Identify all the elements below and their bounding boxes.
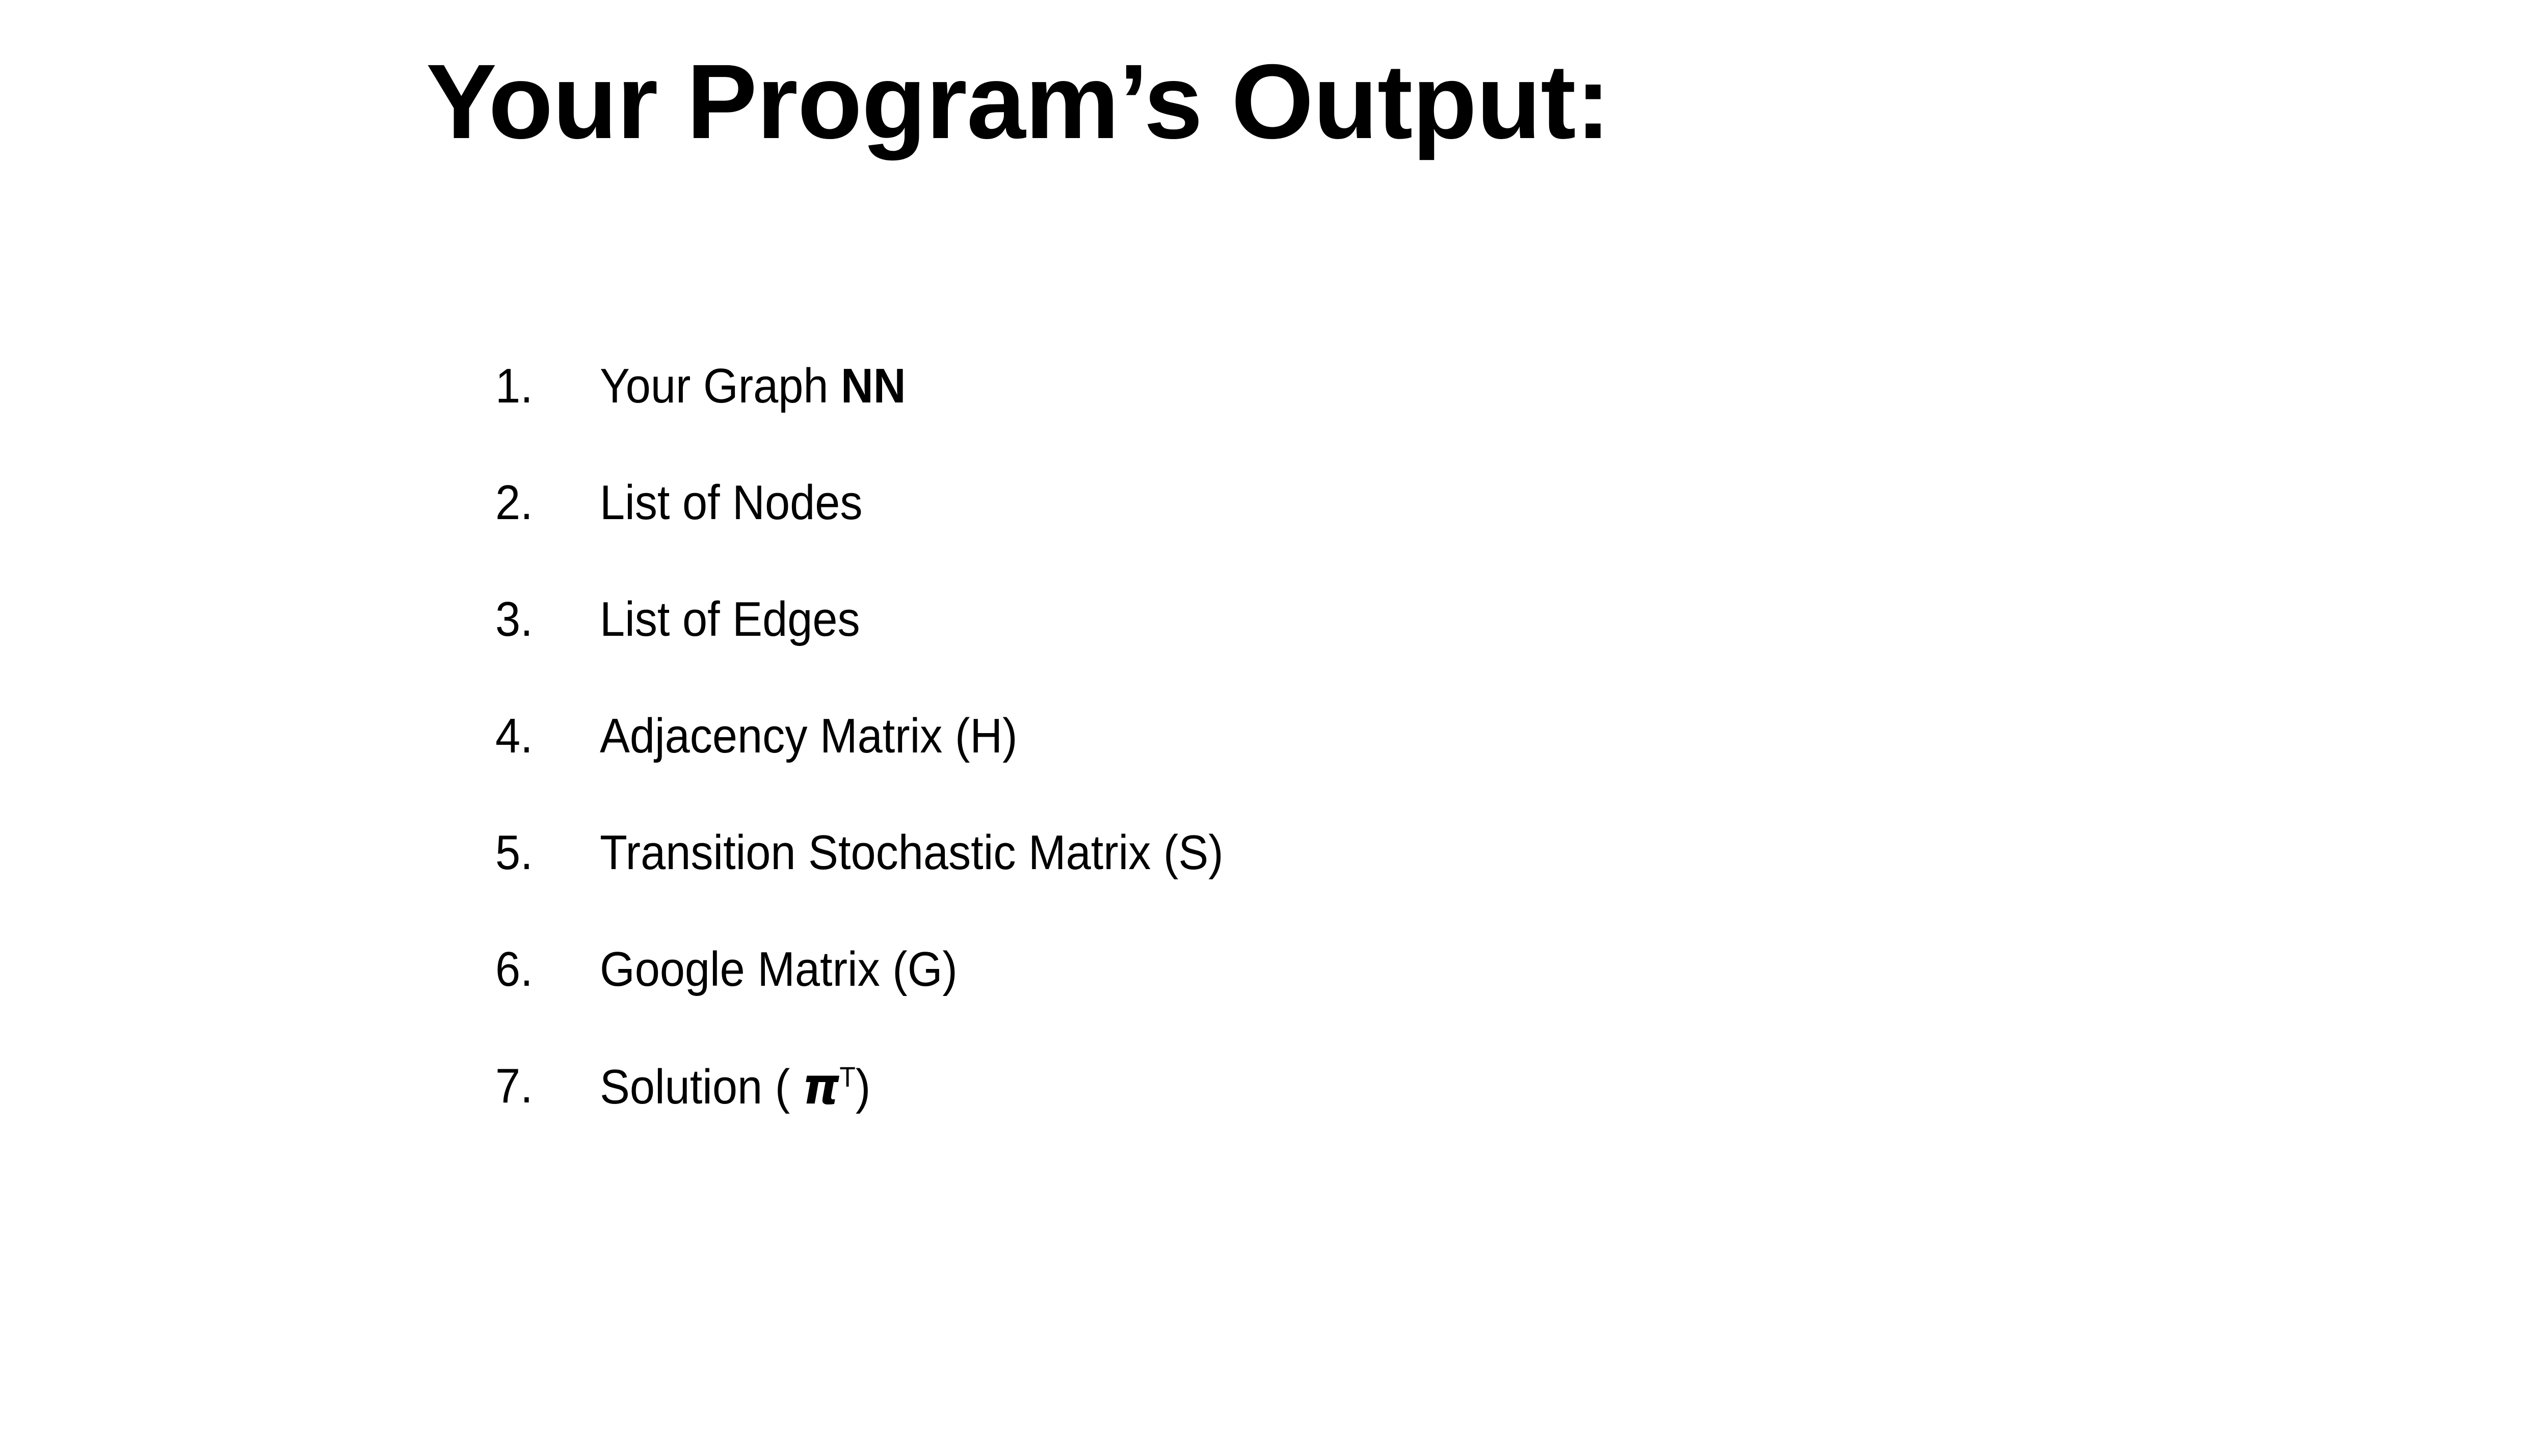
- list-marker: 4.: [495, 707, 566, 766]
- list-item: 5. Transition Stochastic Matrix (S): [495, 823, 2330, 940]
- closing-paren: ): [856, 1060, 870, 1114]
- list-item: 7. Solution ( πT): [495, 1057, 2330, 1173]
- list-item-text: Adjacency Matrix (H): [600, 709, 1018, 763]
- list-item-text: Google Matrix (G): [600, 942, 958, 996]
- list-marker: 1.: [495, 357, 566, 416]
- slide-canvas: Your Program’s Output: 1. Your Graph NN …: [0, 0, 2548, 1456]
- list-item-text: Transition Stochastic Matrix (S): [600, 825, 1224, 880]
- list-item: 1. Your Graph NN: [495, 357, 2330, 473]
- list-item-label: List of Edges: [600, 590, 860, 649]
- list-item-label: List of Nodes: [600, 473, 862, 532]
- list-marker: 5.: [495, 823, 566, 882]
- list-item-text: Solution (: [600, 1060, 803, 1114]
- output-list: 1. Your Graph NN 2. List of Nodes 3. Lis…: [495, 357, 2330, 1173]
- list-item: 2. List of Nodes: [495, 473, 2330, 590]
- list-item-emphasis: NN: [841, 359, 906, 413]
- list-item-label: Your Graph NN: [600, 357, 906, 416]
- list-item-text: Your Graph: [600, 359, 841, 413]
- list-item: 6. Google Matrix (G): [495, 940, 2330, 1057]
- list-item-label: Google Matrix (G): [600, 940, 958, 999]
- list-item: 4. Adjacency Matrix (H): [495, 707, 2330, 823]
- list-item-label: Adjacency Matrix (H): [600, 707, 1018, 766]
- list-marker: 2.: [495, 473, 566, 532]
- list-item-label: Transition Stochastic Matrix (S): [600, 823, 1224, 882]
- list-item: 3. List of Edges: [495, 590, 2330, 707]
- list-marker: 7.: [495, 1057, 566, 1116]
- transpose-superscript: T: [839, 1061, 855, 1093]
- list-marker: 3.: [495, 590, 566, 649]
- list-item-text: List of Edges: [600, 592, 860, 646]
- pi-symbol: π: [803, 1056, 840, 1116]
- page-title: Your Program’s Output:: [426, 49, 2159, 155]
- list-item-text: List of Nodes: [600, 475, 862, 530]
- list-item-label: Solution ( πT): [600, 1057, 870, 1117]
- list-marker: 6.: [495, 940, 566, 999]
